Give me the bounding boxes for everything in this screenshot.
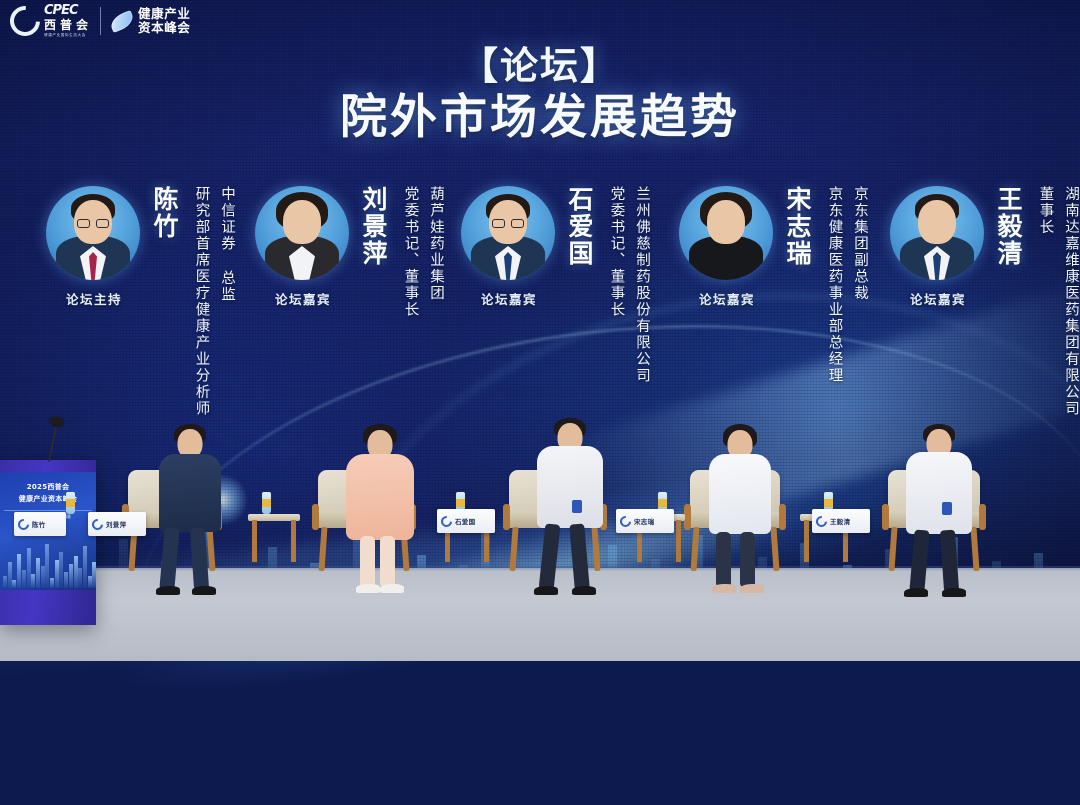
summit-logo: 健康产业 资本峰会 [110, 7, 190, 35]
panelist-card-2: 论坛嘉宾 石爱国 兰州佛慈制药股份有限公司 党委书记、董事长 [461, 186, 653, 384]
panelist-title-2-1: 党委书记、董事长 [605, 186, 627, 318]
nameplate-1: 刘景萍 [88, 512, 146, 536]
cpec-logo-cn: 西普会 [44, 19, 92, 31]
nameplate-text-4: 王毅清 [830, 516, 850, 526]
seated-person-0 [150, 424, 230, 624]
panelist-title-1-1: 党委书记、董事长 [399, 186, 421, 318]
water-bottle-1 [262, 492, 271, 514]
panelist-avatar-4 [890, 186, 984, 280]
forum-title-line2: 院外市场发展趋势 [0, 90, 1080, 146]
panelist-title-0-1: 研究部首席医疗健康产业分析师 [190, 186, 212, 417]
seated-person-2 [528, 418, 612, 624]
cpec-logo: CPEC 西普会 健康产业国际生态大会 [0, 4, 92, 37]
nameplate-0: 陈竹 [14, 512, 66, 536]
panelist-strip: 论坛主持 陈竹 中信证券 总监 研究部首席医疗健康产业分析师 论坛嘉宾 刘景萍 … [0, 186, 1080, 456]
cpec-logo-text: CPEC 西普会 健康产业国际生态大会 [44, 4, 92, 37]
panelist-avatar-2 [461, 186, 555, 280]
panelist-role-2: 论坛嘉宾 [461, 289, 557, 308]
seated-person-3 [700, 424, 780, 624]
panelist-name-4: 王毅清 [990, 186, 1026, 267]
side-table-0 [248, 514, 300, 521]
cpec-logo-sub: 健康产业国际生态大会 [44, 34, 92, 38]
nameplate-text-0: 陈竹 [32, 519, 46, 529]
panelist-title-4-0: 湖南达嘉维康医药集团有限公司 [1059, 186, 1080, 417]
podium-banner-line2: 健康产业资本峰会 [4, 494, 92, 504]
panelist-role-0: 论坛主持 [46, 289, 142, 308]
panelist-title-0-0: 中信证券 总监 [215, 186, 237, 303]
podium-chart-graphic [0, 544, 96, 590]
cpec-logo-en: CPEC [44, 4, 92, 17]
panelist-titles-2: 兰州佛慈制药股份有限公司 党委书记、董事长 [602, 186, 653, 384]
panelist-role-4: 论坛嘉宾 [890, 289, 986, 308]
water-bottle-0 [66, 492, 75, 514]
speaker-podium: 2025西普会 健康产业资本峰会 2025.8.10-12 | 中国·博鳌 [0, 460, 96, 625]
panelist-role-3: 论坛嘉宾 [679, 289, 775, 308]
nameplate-logo-icon-4 [814, 513, 830, 529]
panelist-titles-1: 葫芦娃药业集团 党委书记、董事长 [396, 186, 447, 318]
nameplate-logo-icon-0 [16, 516, 32, 532]
nameplate-4: 王毅清 [812, 509, 870, 533]
seated-person-4 [898, 424, 980, 624]
panelist-portrait-wrap-0: 论坛主持 [46, 186, 142, 308]
panelist-avatar-1 [255, 186, 349, 280]
nameplate-logo-icon-2 [439, 513, 455, 529]
panelist-title-3-1: 京东健康医药事业部总经理 [823, 186, 845, 384]
nameplate-text-2: 石爱国 [455, 516, 475, 526]
panelist-name-3: 宋志瑞 [779, 186, 815, 267]
panelist-name-0: 陈竹 [146, 186, 182, 240]
panelist-card-3: 论坛嘉宾 宋志瑞 京东集团副总裁 京东健康医药事业部总经理 [679, 186, 871, 384]
panelist-portrait-wrap-2: 论坛嘉宾 [461, 186, 557, 308]
panelist-role-1: 论坛嘉宾 [255, 289, 351, 308]
nameplate-logo-icon-1 [90, 516, 106, 532]
panelist-title-4-1: 董事长 [1034, 186, 1056, 236]
panelist-title-2-0: 兰州佛慈制药股份有限公司 [630, 186, 652, 384]
forum-title-line1: 【论坛】 [0, 44, 1080, 89]
panelist-card-0: 论坛主持 陈竹 中信证券 总监 研究部首席医疗健康产业分析师 [46, 186, 238, 417]
panelist-avatar-3 [679, 186, 773, 280]
forum-title-block: 【论坛】 院外市场发展趋势 [0, 44, 1080, 146]
panelist-card-4: 论坛嘉宾 王毅清 湖南达嘉维康医药集团有限公司 董事长 [890, 186, 1080, 417]
event-logo-bar: CPEC 西普会 健康产业国际生态大会 健康产业 资本峰会 [0, 0, 238, 42]
panelist-portrait-wrap-1: 论坛嘉宾 [255, 186, 351, 308]
summit-logo-line1: 健康产业 [138, 7, 190, 21]
panelist-titles-4: 湖南达嘉维康医药集团有限公司 董事长 [1031, 186, 1080, 417]
cpec-ring-icon [4, 0, 46, 42]
panelist-avatar-0 [46, 186, 140, 280]
panelist-titles-3: 京东集团副总裁 京东健康医药事业部总经理 [820, 186, 871, 384]
podium-banner-line1: 2025西普会 [4, 482, 92, 492]
panelist-title-3-0: 京东集团副总裁 [848, 186, 870, 302]
seated-person-1 [340, 424, 420, 624]
nameplate-2: 石爱国 [437, 509, 495, 533]
summit-logo-text: 健康产业 资本峰会 [138, 7, 190, 35]
logo-divider [100, 7, 101, 35]
leaf-icon [108, 10, 136, 33]
nameplate-logo-icon-3 [618, 513, 634, 529]
summit-logo-line2: 资本峰会 [138, 21, 190, 35]
nameplate-text-1: 刘景萍 [106, 519, 126, 529]
panelist-titles-0: 中信证券 总监 研究部首席医疗健康产业分析师 [187, 186, 238, 417]
panelist-portrait-wrap-3: 论坛嘉宾 [679, 186, 775, 308]
panelist-card-1: 论坛嘉宾 刘景萍 葫芦娃药业集团 党委书记、董事长 [255, 186, 447, 318]
panelist-title-1-0: 葫芦娃药业集团 [424, 186, 446, 302]
panelist-name-1: 刘景萍 [355, 186, 391, 267]
nameplate-3: 宋志瑞 [616, 509, 674, 533]
panelist-name-2: 石爱国 [561, 186, 597, 267]
nameplate-text-3: 宋志瑞 [634, 516, 654, 526]
panelist-portrait-wrap-4: 论坛嘉宾 [890, 186, 986, 308]
